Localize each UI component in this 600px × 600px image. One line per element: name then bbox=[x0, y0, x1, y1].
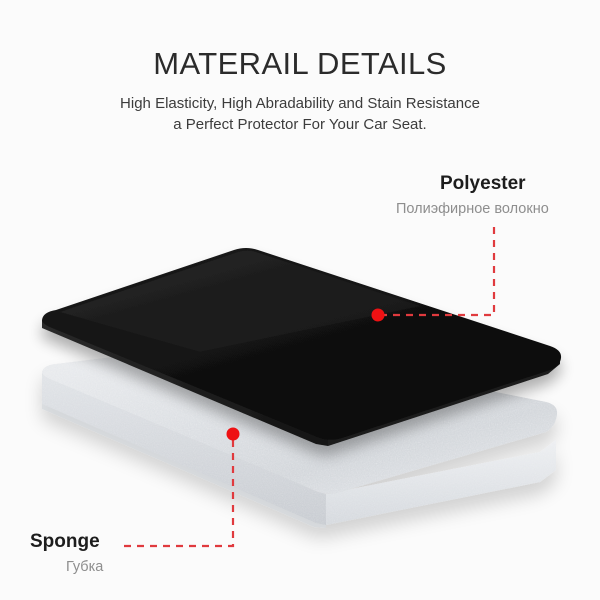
callout-sponge-subtitle: Губка bbox=[30, 558, 103, 576]
callout-polyester-title: Polyester bbox=[396, 173, 549, 196]
callout-polyester: Polyester Полиэфирное волокно bbox=[396, 173, 549, 218]
layer-illustration bbox=[0, 0, 600, 600]
exploded-layer-diagram bbox=[0, 0, 600, 600]
polyester-marker-dot bbox=[372, 309, 385, 322]
callout-sponge: Sponge Губка bbox=[30, 531, 103, 576]
callout-polyester-subtitle: Полиэфирное волокно bbox=[396, 200, 549, 218]
callout-sponge-title: Sponge bbox=[30, 531, 103, 554]
product-infographic: MATERAIL DETAILS High Elasticity, High A… bbox=[0, 0, 600, 600]
sponge-marker-dot bbox=[227, 428, 240, 441]
